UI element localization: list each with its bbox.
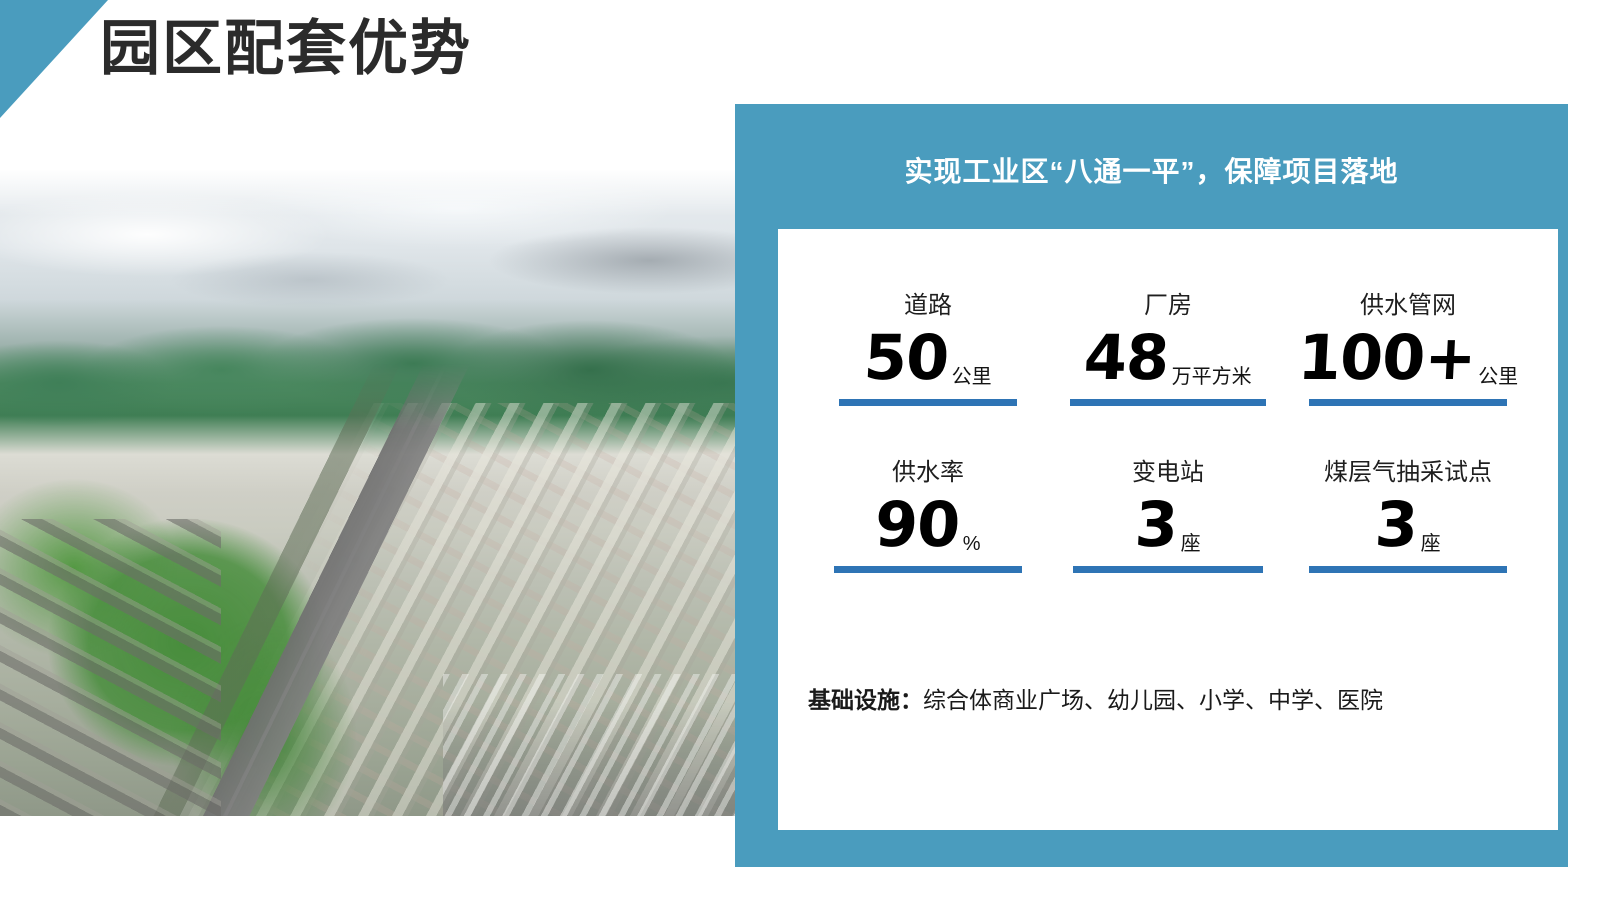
stat-unit: 万平方米 (1172, 360, 1252, 393)
stat-number: 3 (1374, 494, 1419, 556)
stat-label: 煤层气抽采试点 (1324, 458, 1492, 488)
stat-number: 3 (1134, 494, 1179, 556)
stat-value: 100+ 公里 (1298, 327, 1518, 393)
stat-underline (1073, 566, 1263, 573)
stat-unit: 座 (1181, 527, 1201, 560)
stat-number: 100+ (1296, 327, 1477, 389)
stat-unit: 座 (1421, 527, 1441, 560)
stat-value: 50 公里 (864, 327, 991, 393)
stat-value: 3 座 (1135, 494, 1200, 560)
stat-underline (839, 399, 1017, 406)
info-panel: 实现工业区“八通一平”，保障项目落地 道路 50 公里 厂房 48 万平方米 (735, 104, 1568, 867)
stat-item-cbm-pilot: 煤层气抽采试点 3 座 (1288, 458, 1528, 573)
infrastructure-note-value: 综合体商业广场、幼儿园、小学、中学、医院 (923, 687, 1383, 713)
aerial-photo (0, 170, 738, 816)
stat-underline (1070, 399, 1266, 406)
stat-underline (1309, 399, 1507, 406)
stats-card: 道路 50 公里 厂房 48 万平方米 供水管网 (778, 229, 1558, 830)
stat-number: 90 (874, 494, 962, 556)
stat-item-water-rate: 供水率 90 % (808, 458, 1048, 573)
panel-heading: 实现工业区“八通一平”，保障项目落地 (735, 150, 1568, 190)
stat-label: 变电站 (1132, 458, 1204, 488)
slide-root: 园区配套优势 实现工业区“八通一平”，保障项目落地 道路 50 公里 (0, 0, 1600, 900)
stat-item-water-pipes: 供水管网 100+ 公里 (1288, 291, 1528, 406)
stats-grid: 道路 50 公里 厂房 48 万平方米 供水管网 (808, 291, 1528, 573)
stat-number: 48 (1083, 327, 1171, 389)
page-title: 园区配套优势 (100, 16, 472, 82)
stat-label: 厂房 (1144, 291, 1192, 321)
stat-label: 供水率 (892, 458, 964, 488)
stat-item-factory: 厂房 48 万平方米 (1048, 291, 1288, 406)
stat-unit: % (963, 533, 981, 560)
stat-item-road: 道路 50 公里 (808, 291, 1048, 406)
aerial-photo-factory-roofs (0, 519, 221, 816)
stat-label: 道路 (904, 291, 952, 321)
infrastructure-note: 基础设施：综合体商业广场、幼儿园、小学、中学、医院 (808, 681, 1538, 715)
stat-value: 3 座 (1375, 494, 1440, 560)
infrastructure-note-label: 基础设施： (808, 687, 923, 713)
stat-underline (1309, 566, 1507, 573)
stat-unit: 公里 (952, 360, 992, 393)
stat-number: 50 (863, 327, 951, 389)
stat-value: 48 万平方米 (1084, 327, 1251, 393)
corner-triangle-decoration (0, 0, 108, 118)
stat-item-substation: 变电站 3 座 (1048, 458, 1288, 573)
stat-value: 90 % (875, 494, 980, 560)
stat-underline (834, 566, 1022, 573)
stat-label: 供水管网 (1360, 291, 1456, 321)
aerial-photo-crosswalk (443, 674, 738, 816)
stat-unit: 公里 (1478, 360, 1518, 393)
